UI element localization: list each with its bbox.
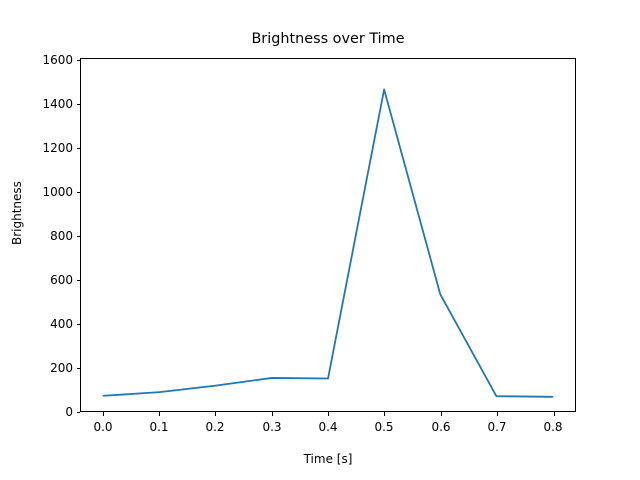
x-axis-label: Time [s] (80, 452, 576, 466)
x-tick-label: 0.8 (533, 420, 573, 434)
y-tick-label: 1400 (33, 97, 73, 111)
y-axis-label: Brightness (10, 225, 24, 245)
matplotlib-figure: Brightness over Time Brightness Time [s]… (0, 0, 640, 480)
x-tick-mark (215, 412, 216, 416)
x-tick-mark (159, 412, 160, 416)
plot-axes (80, 58, 576, 412)
x-tick-label: 0.5 (364, 420, 404, 434)
x-tick-mark (384, 412, 385, 416)
x-tick-mark (554, 412, 555, 416)
x-tick-label: 0.6 (421, 420, 461, 434)
x-tick-label: 0.4 (308, 420, 348, 434)
x-tick-mark (441, 412, 442, 416)
plot-area (81, 59, 575, 411)
y-tick-label: 800 (40, 229, 73, 243)
x-tick-mark (497, 412, 498, 416)
x-tick-label: 0.7 (477, 420, 517, 434)
chart-title: Brightness over Time (80, 30, 576, 48)
y-tick-mark (77, 412, 81, 413)
x-tick-label: 0.1 (139, 420, 179, 434)
y-tick-label: 400 (40, 317, 73, 331)
y-tick-label: 1200 (33, 141, 73, 155)
x-tick-label: 0.0 (83, 420, 123, 434)
brightness-line-series (103, 89, 552, 396)
y-tick-label: 1000 (33, 185, 73, 199)
x-tick-label: 0.2 (195, 420, 235, 434)
x-tick-mark (103, 412, 104, 416)
x-tick-mark (272, 412, 273, 416)
y-tick-label: 200 (40, 361, 73, 375)
y-tick-label: 1600 (33, 53, 73, 67)
x-tick-mark (328, 412, 329, 416)
y-tick-label: 0 (40, 405, 73, 419)
x-tick-label: 0.3 (252, 420, 292, 434)
y-tick-label: 600 (40, 273, 73, 287)
